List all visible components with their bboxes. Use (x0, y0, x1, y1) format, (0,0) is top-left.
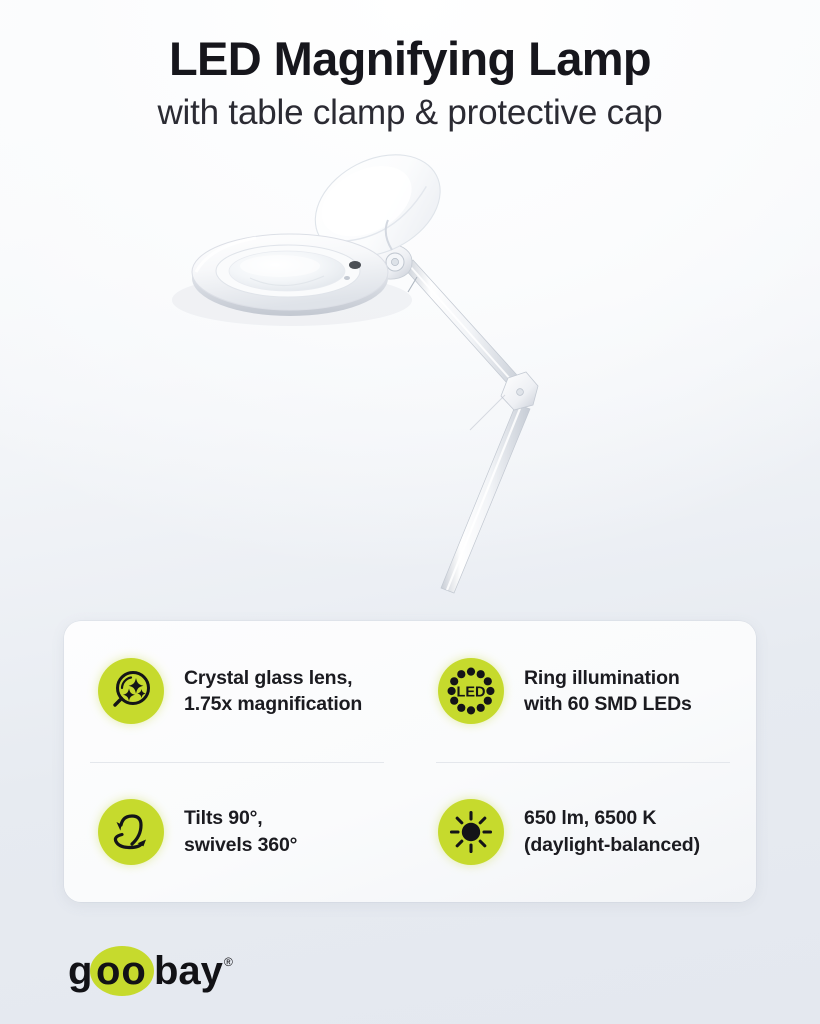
feature-label: Crystal glass lens, 1.75x magnification (184, 665, 362, 718)
feature-label: Ring illumination with 60 SMD LEDs (524, 665, 692, 718)
logo-text-oo: oo (96, 949, 147, 993)
logo-text-g: g (68, 949, 92, 993)
feature-line-1: Crystal glass lens, (184, 665, 362, 692)
feature-item-rotation: Tilts 90°, swivels 360° (64, 762, 410, 903)
feature-line-2: with 60 SMD LEDs (524, 691, 692, 718)
feature-label: Tilts 90°, swivels 360° (184, 805, 297, 858)
led-ring-icon: LED (438, 658, 504, 724)
product-infographic: LED Magnifying Lamp with table clamp & p… (0, 0, 820, 1024)
header: LED Magnifying Lamp with table clamp & p… (0, 34, 820, 132)
led-icon-text: LED (457, 685, 486, 701)
lamp-head (192, 234, 388, 316)
feature-line-1: Ring illumination (524, 665, 692, 692)
feature-line-2: 1.75x magnification (184, 691, 362, 718)
feature-line-1: 650 lm, 6500 K (524, 805, 700, 832)
lamp-elbow-joint (501, 372, 538, 410)
sun-icon (438, 799, 504, 865)
lamp-head-pivot (372, 234, 412, 279)
rotate-arrows-icon (98, 799, 164, 865)
feature-label: 650 lm, 6500 K (daylight-balanced) (524, 805, 700, 858)
logo-trademark: ® (224, 955, 233, 969)
magnifier-sparkle-icon (98, 658, 164, 724)
feature-item-led-ring: LED Ring illumination with 60 SMD LEDs (410, 621, 756, 762)
logo-text-bay: bay (154, 949, 224, 993)
feature-line-2: swivels 360° (184, 832, 297, 859)
page-title: LED Magnifying Lamp (0, 34, 820, 84)
feature-line-2: (daylight-balanced) (524, 832, 700, 859)
page-subtitle: with table clamp & protective cap (0, 94, 820, 133)
goobay-logo: g oo bay ® (54, 944, 294, 996)
feature-grid: Crystal glass lens, 1.75x magnification (64, 621, 756, 902)
feature-item-lens: Crystal glass lens, 1.75x magnification (64, 621, 410, 762)
feature-line-1: Tilts 90°, (184, 805, 297, 832)
lamp-arm-lower (441, 404, 530, 593)
feature-item-brightness: 650 lm, 6500 K (daylight-balanced) (410, 762, 756, 903)
lamp-arm-upper (404, 260, 526, 392)
protective-cap (298, 135, 457, 277)
feature-card: Crystal glass lens, 1.75x magnification (64, 621, 756, 902)
